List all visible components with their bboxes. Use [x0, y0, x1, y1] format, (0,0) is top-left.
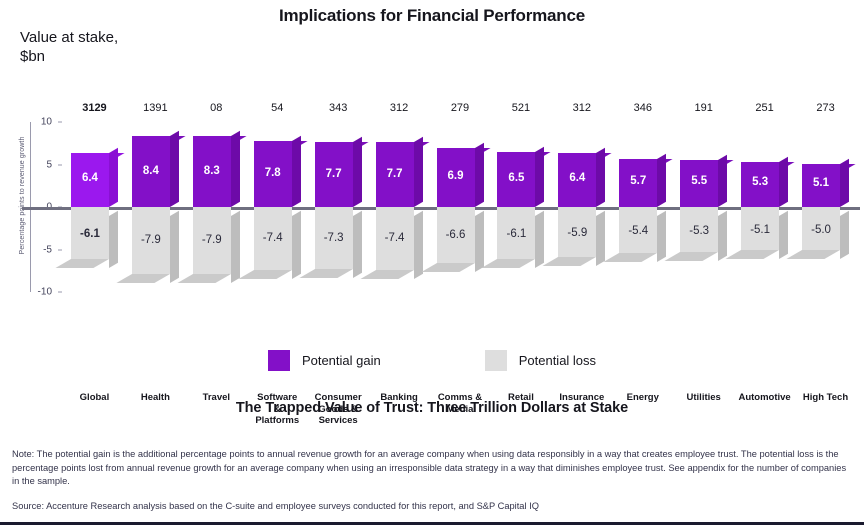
potential-gain-bar[interactable]: 6.9	[437, 148, 484, 216]
potential-loss-bar[interactable]: -5.3	[680, 207, 727, 261]
bar-group[interactable]: 5216.5-6.1	[497, 122, 544, 292]
y-axis-tick-mark	[58, 249, 62, 250]
value-at-stake-number: 346	[619, 102, 666, 114]
footnotes: Note: The potential gain is the addition…	[12, 448, 852, 513]
bar-group[interactable]: 547.8-7.4	[254, 122, 301, 292]
loss-value-label: -7.4	[376, 232, 414, 244]
loss-bar-bottom-face	[55, 259, 109, 268]
loss-value-label: -5.4	[619, 225, 657, 237]
loss-bar-side-face	[596, 211, 605, 266]
bar-group[interactable]: 3126.4-5.9	[558, 122, 605, 292]
loss-bar-side-face	[657, 211, 666, 262]
loss-bar-side-face	[718, 211, 727, 261]
gain-value-label: 5.3	[741, 176, 779, 188]
loss-value-label: -6.6	[437, 229, 475, 241]
potential-loss-bar[interactable]: -7.4	[254, 207, 301, 279]
legend-swatch-potential-gain	[268, 350, 290, 371]
chart-legend: Potential gainPotential loss	[0, 350, 864, 371]
potential-loss-bar[interactable]: -7.4	[376, 207, 423, 279]
gain-bar-side-face	[596, 147, 605, 207]
legend-label: Potential gain	[302, 353, 381, 368]
y-axis-tick-label: -5	[43, 244, 52, 255]
gain-value-label: 6.9	[437, 170, 475, 182]
potential-gain-bar[interactable]: 7.7	[376, 142, 423, 216]
gain-bar-side-face	[353, 136, 362, 207]
loss-bar-bottom-face	[360, 270, 414, 279]
loss-value-label: -5.1	[741, 224, 779, 236]
bar-group[interactable]: 3465.7-5.4	[619, 122, 666, 292]
gain-value-label: 5.7	[619, 175, 657, 187]
value-at-stake-number: 251	[741, 102, 788, 114]
page-title: Implications for Financial Performance	[0, 6, 864, 26]
loss-value-label: -5.9	[558, 227, 596, 239]
loss-bar-bottom-face	[299, 269, 353, 278]
loss-bar-side-face	[535, 211, 544, 268]
gain-bar-side-face	[718, 155, 727, 207]
potential-loss-bar[interactable]: -6.1	[71, 207, 118, 268]
loss-bar-bottom-face	[665, 252, 719, 261]
legend-item-potential-gain[interactable]: Potential gain	[268, 350, 381, 371]
gain-bar-side-face	[109, 147, 118, 207]
bar-group[interactable]: 1915.5-5.3	[680, 122, 727, 292]
value-at-stake-number: 343	[315, 102, 362, 114]
legend-swatch-potential-loss	[485, 350, 507, 371]
category-label-line: Platforms	[247, 415, 308, 427]
potential-loss-bar[interactable]: -7.3	[315, 207, 362, 278]
loss-bar-side-face	[109, 211, 118, 268]
loss-bar-side-face	[414, 211, 423, 279]
y-axis-tick-mark	[58, 292, 62, 293]
gain-value-label: 7.7	[315, 168, 353, 180]
loss-bar-side-face	[840, 211, 849, 259]
methodology-note: Note: The potential gain is the addition…	[12, 448, 852, 489]
loss-bar-side-face	[231, 211, 240, 283]
gain-bar-side-face	[657, 153, 666, 207]
potential-gain-bar[interactable]: 7.8	[254, 141, 301, 216]
loss-bar-bottom-face	[116, 274, 170, 283]
value-at-stake-number: 279	[437, 102, 484, 114]
bar-group[interactable]: 2796.9-6.6	[437, 122, 484, 292]
loss-bar-side-face	[475, 211, 484, 272]
gain-value-label: 8.4	[132, 165, 170, 177]
loss-bar-bottom-face	[482, 259, 536, 268]
bar-group[interactable]: 088.3-7.9	[193, 122, 240, 292]
potential-loss-bar[interactable]: -5.4	[619, 207, 666, 262]
value-at-stake-number: 54	[254, 102, 301, 114]
bar-series-group: 31296.4-6.113918.4-7.9088.3-7.9547.8-7.4…	[64, 122, 856, 292]
y-axis-tick-mark	[58, 164, 62, 165]
value-at-stake-number: 521	[497, 102, 544, 114]
loss-bar-side-face	[170, 211, 179, 283]
gain-value-label: 5.1	[802, 177, 840, 189]
value-at-stake-number: 08	[193, 102, 240, 114]
potential-loss-bar[interactable]: -6.6	[437, 207, 484, 272]
gain-bar-side-face	[840, 158, 849, 207]
potential-loss-bar[interactable]: -6.1	[497, 207, 544, 268]
legend-label: Potential loss	[519, 353, 596, 368]
gain-bar-side-face	[535, 147, 544, 207]
gain-bar-side-face	[414, 136, 423, 207]
gain-bar-side-face	[779, 157, 788, 207]
loss-bar-bottom-face	[726, 250, 780, 259]
loss-value-label: -7.3	[315, 232, 353, 244]
loss-value-label: -7.9	[132, 234, 170, 246]
loss-value-label: -6.1	[497, 228, 535, 240]
gain-value-label: 6.4	[558, 172, 596, 184]
loss-bar-bottom-face	[786, 250, 840, 259]
gain-value-label: 7.8	[254, 167, 292, 179]
loss-bar-side-face	[353, 211, 362, 278]
bar-group[interactable]: 3127.7-7.4	[376, 122, 423, 292]
bar-group[interactable]: 13918.4-7.9	[132, 122, 179, 292]
chart-subtitle: The Trapped Value of Trust: Three Trilli…	[0, 400, 864, 416]
loss-value-label: -6.1	[71, 228, 109, 240]
chart-plot-area: Percentage points to revenue growth 1050…	[0, 104, 864, 339]
loss-bar-side-face	[779, 211, 788, 260]
loss-bar-bottom-face	[177, 274, 231, 283]
value-at-stake-number: 273	[802, 102, 849, 114]
loss-value-label: -5.3	[680, 225, 718, 237]
bar-group[interactable]: 31296.4-6.1	[71, 122, 118, 292]
bar-group[interactable]: 2515.3-5.1	[741, 122, 788, 292]
value-at-stake-number: 191	[680, 102, 727, 114]
bar-group[interactable]: 3437.7-7.3	[315, 122, 362, 292]
loss-value-label: -7.9	[193, 234, 231, 246]
value-at-stake-number: 312	[558, 102, 605, 114]
loss-bar-bottom-face	[421, 263, 475, 272]
value-at-stake-number: 1391	[132, 102, 179, 114]
gain-bar-side-face	[231, 131, 240, 207]
gain-value-label: 6.5	[497, 172, 535, 184]
gain-bar-side-face	[475, 143, 484, 207]
loss-bar-bottom-face	[543, 257, 597, 266]
gain-bar-side-face	[292, 135, 301, 206]
y-axis-tick-label: 10	[41, 117, 52, 128]
loss-bar-side-face	[292, 211, 301, 279]
value-at-stake-number: 312	[376, 102, 423, 114]
potential-gain-bar[interactable]: 8.3	[193, 136, 240, 216]
legend-item-potential-loss[interactable]: Potential loss	[485, 350, 596, 371]
potential-loss-bar[interactable]: -7.9	[193, 207, 240, 283]
potential-loss-bar[interactable]: -5.9	[558, 207, 605, 266]
potential-loss-bar[interactable]: -5.1	[741, 207, 788, 259]
gain-value-label: 8.3	[193, 165, 231, 177]
value-at-stake-number: 3129	[71, 102, 118, 114]
gain-value-label: 5.5	[680, 175, 718, 187]
loss-bar-bottom-face	[604, 253, 658, 262]
potential-loss-bar[interactable]: -5.0	[802, 207, 849, 259]
gain-value-label: 7.7	[376, 168, 414, 180]
gain-bar-side-face	[170, 130, 179, 207]
category-label-line: Services	[308, 415, 369, 427]
value-at-stake-caption: Value at stake, $bn	[20, 28, 130, 66]
y-axis-tick-label: -10	[38, 287, 52, 298]
potential-loss-bar[interactable]: -7.9	[132, 207, 179, 283]
y-axis-tick-mark	[58, 122, 62, 123]
potential-gain-bar[interactable]: 8.4	[132, 136, 179, 216]
y-axis-tick-label: 5	[46, 159, 52, 170]
y-axis-title: Percentage points to revenue growth	[19, 113, 26, 278]
potential-gain-bar[interactable]: 7.7	[315, 142, 362, 216]
gain-value-label: 6.4	[71, 172, 109, 184]
source-note: Source: Accenture Research analysis base…	[12, 500, 852, 514]
bar-group[interactable]: 2735.1-5.0	[802, 122, 849, 292]
loss-value-label: -7.4	[254, 232, 292, 244]
loss-bar-bottom-face	[238, 270, 292, 279]
loss-value-label: -5.0	[802, 224, 840, 236]
